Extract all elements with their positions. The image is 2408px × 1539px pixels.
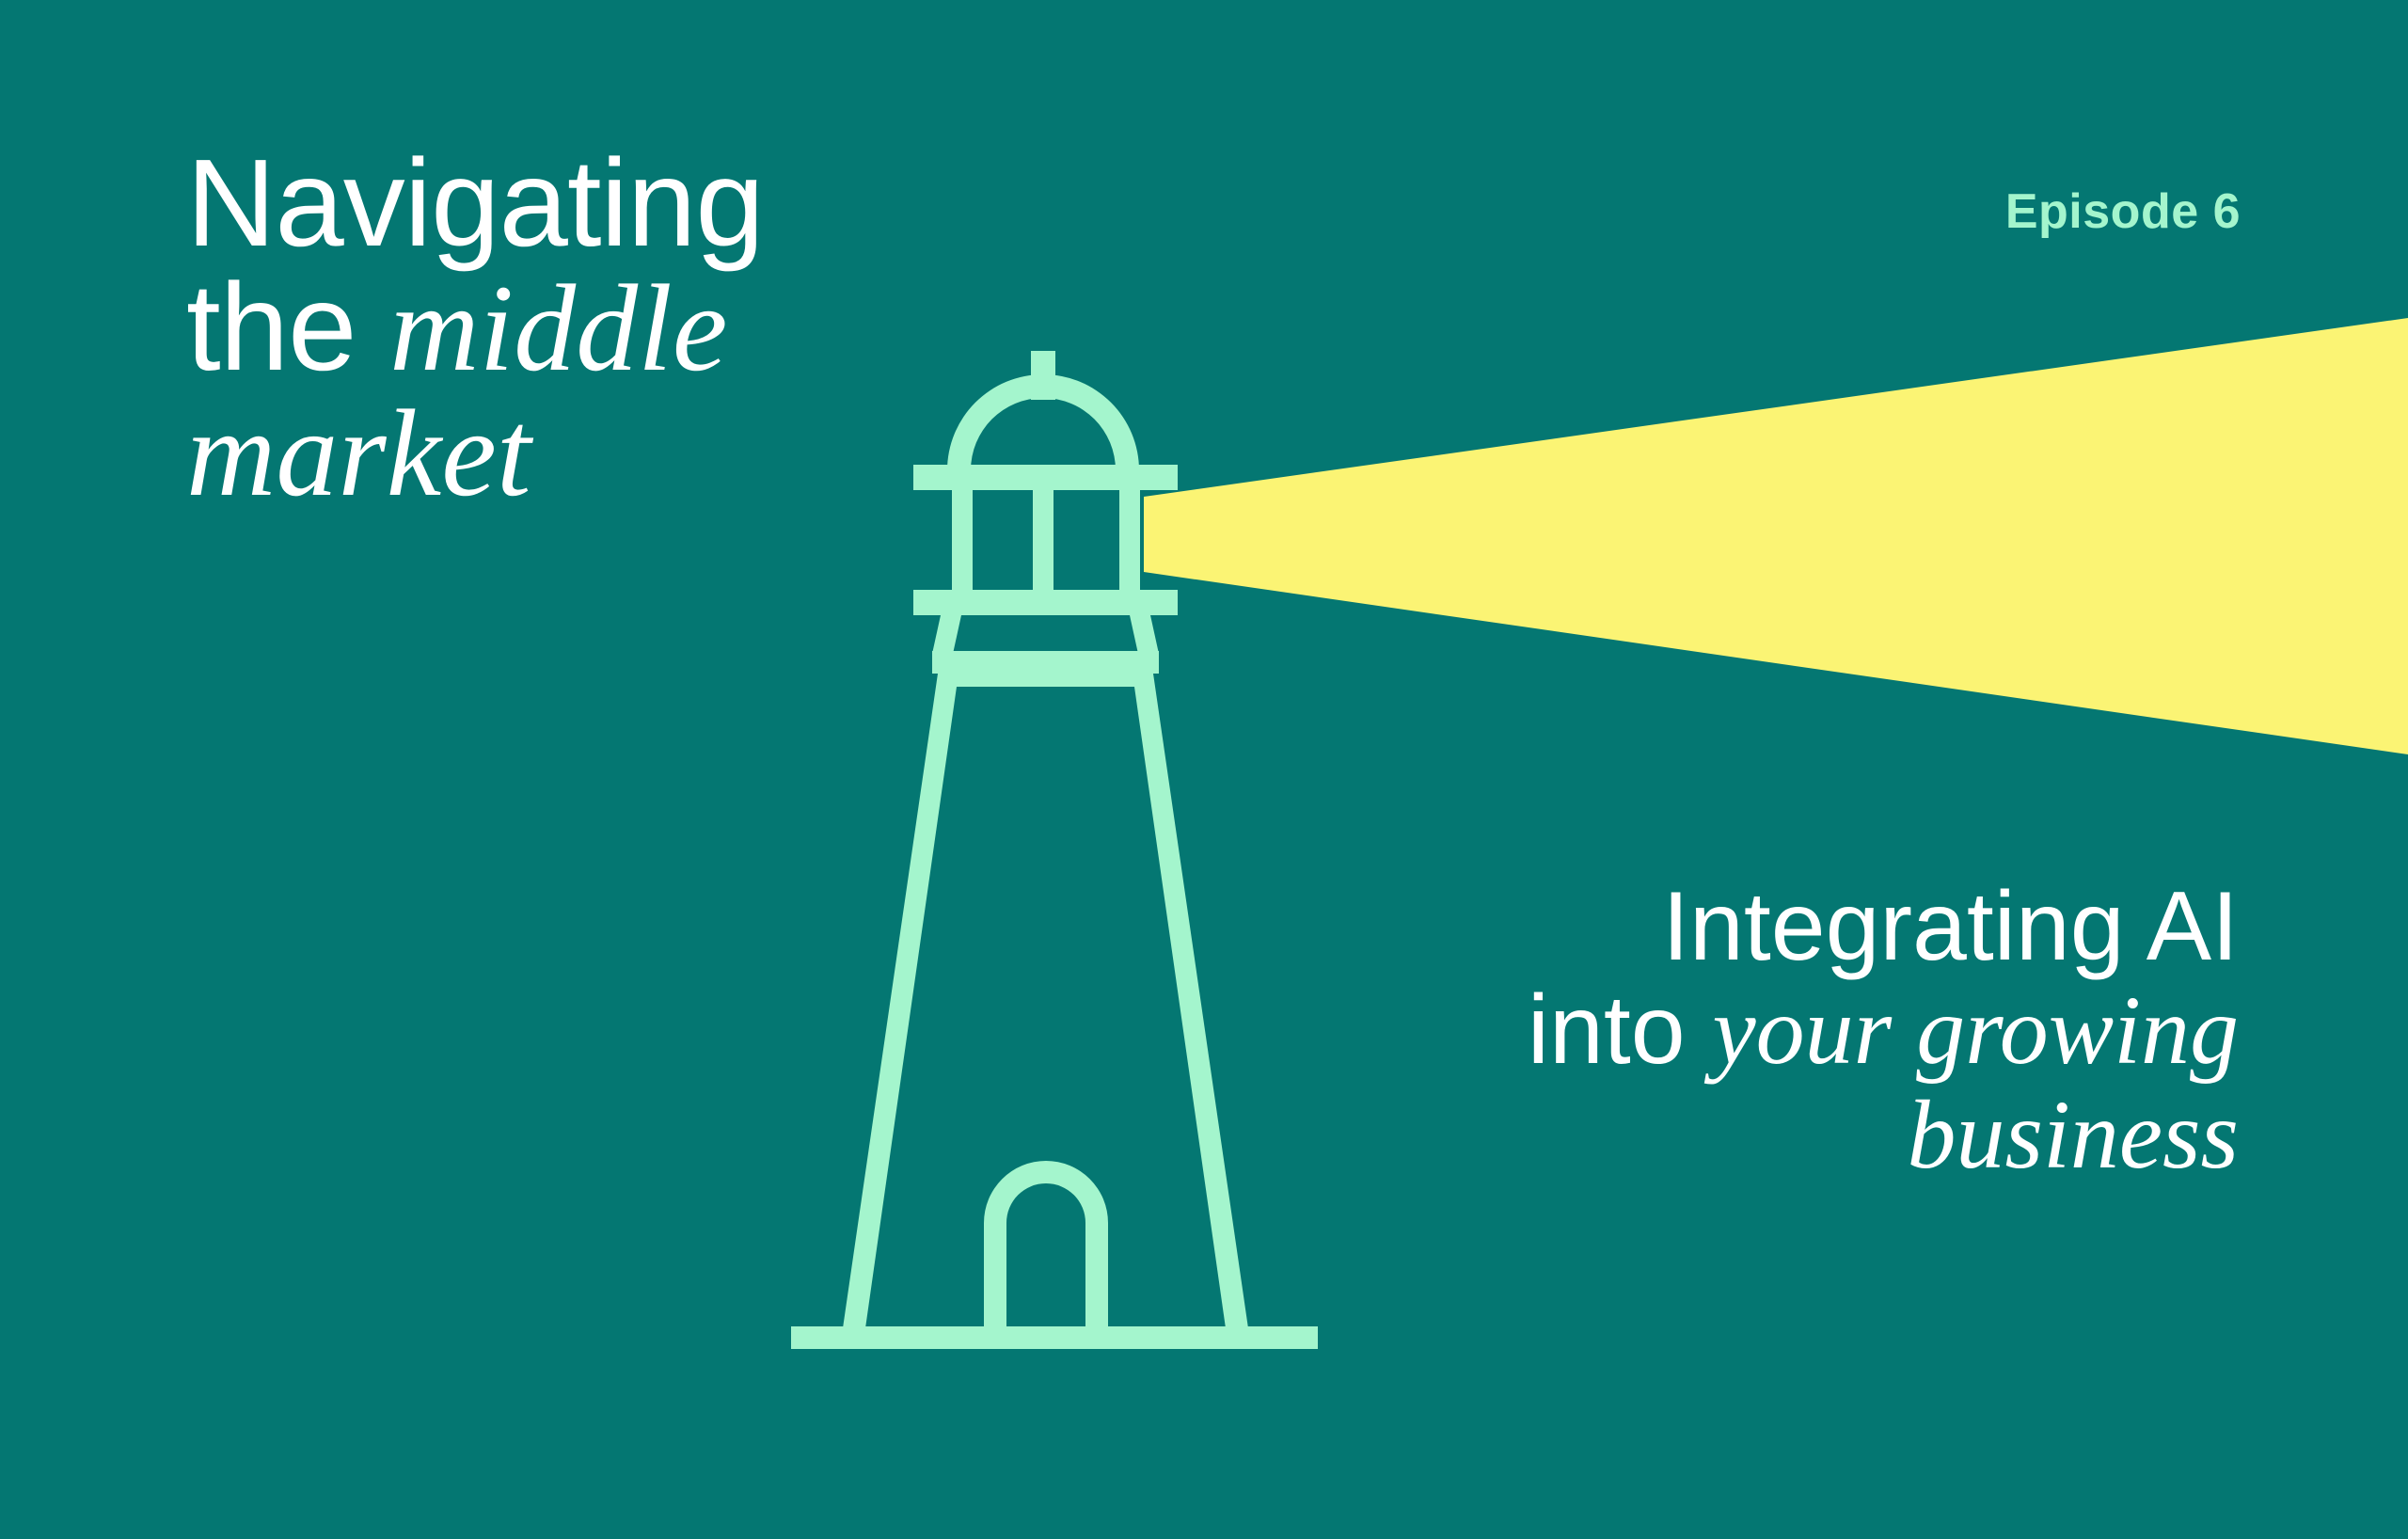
episode-number-badge: Episode 6 bbox=[2005, 183, 2241, 240]
title-line-1-text: Navigating bbox=[186, 134, 764, 272]
subtitle-line-1-text: Integrating AI bbox=[1662, 872, 2239, 981]
episode-title: Navigating the middle market bbox=[186, 141, 967, 516]
title-line-2-italic: middle bbox=[389, 259, 727, 397]
title-line-3-italic: market bbox=[186, 384, 531, 522]
lamp-room-right-post bbox=[1119, 490, 1140, 590]
podcast-episode-cover: Navigating the middle market Episode 6 I… bbox=[0, 0, 2408, 1539]
tower-top-lip bbox=[943, 674, 1148, 687]
lamp-room-center-mullion bbox=[1033, 490, 1053, 590]
lower-gallery-rail bbox=[913, 590, 1178, 615]
title-line-2: the middle bbox=[186, 265, 967, 390]
subtitle-line-2-regular: into bbox=[1528, 976, 1713, 1085]
subtitle-line-2-italic: your growing bbox=[1712, 976, 2239, 1085]
gallery-collar-band bbox=[932, 651, 1159, 674]
title-line-3: market bbox=[186, 390, 967, 516]
subtitle-line-3-italic: business bbox=[1908, 1081, 2239, 1189]
subtitle-line-3: business bbox=[1242, 1083, 2239, 1187]
title-line-2-regular: the bbox=[186, 258, 389, 396]
ground-baseline bbox=[791, 1326, 1318, 1349]
subtitle-line-1: Integrating AI bbox=[1242, 875, 2239, 978]
episode-subtitle: Integrating AI into your growing busines… bbox=[1242, 875, 2239, 1188]
subtitle-line-2: into your growing bbox=[1242, 978, 2239, 1083]
title-line-1: Navigating bbox=[186, 141, 967, 265]
